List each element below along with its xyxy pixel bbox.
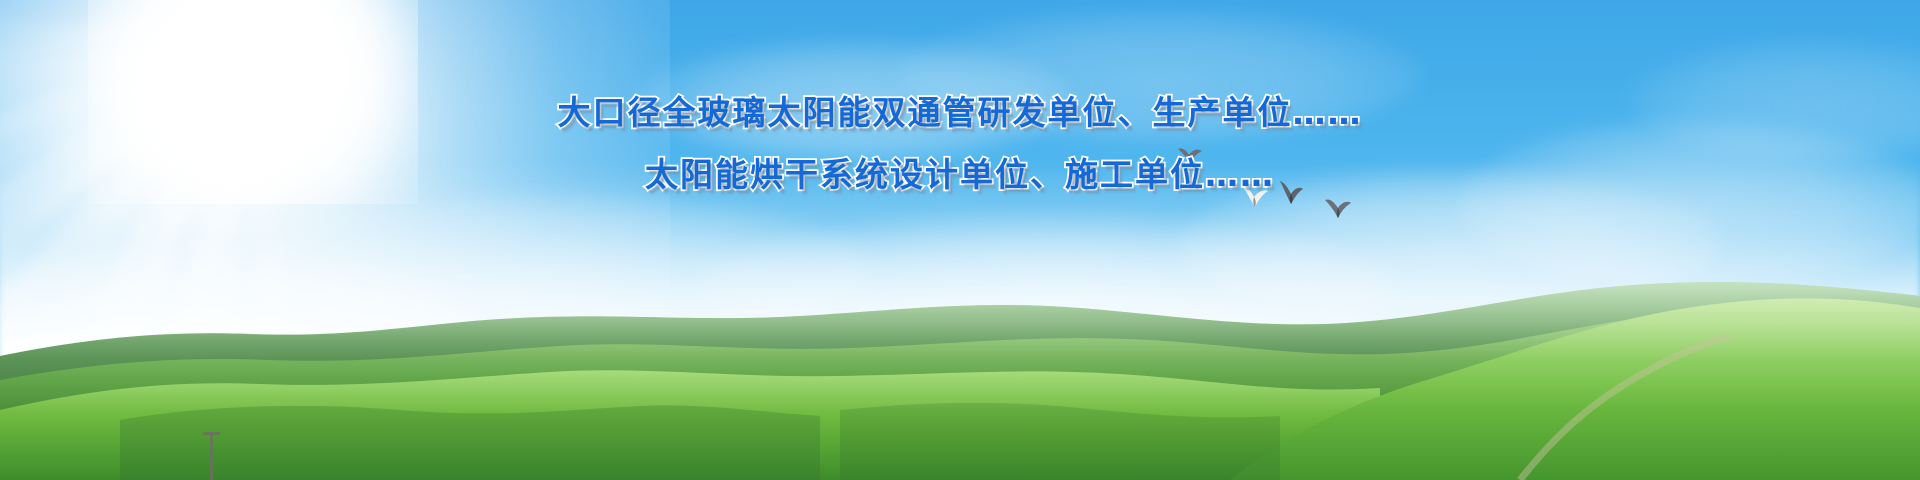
bird-icon xyxy=(1277,180,1305,206)
bird-icon xyxy=(1240,183,1270,209)
hero-banner: 大口径全玻璃太阳能双通管研发单位、生产单位…… 太阳能烘干系统设计单位、施工单位… xyxy=(0,0,1920,480)
bird-icon xyxy=(1323,196,1353,220)
bird-icon xyxy=(1177,146,1203,166)
cloud-icon xyxy=(900,10,1420,140)
hills-icon xyxy=(0,260,1920,480)
